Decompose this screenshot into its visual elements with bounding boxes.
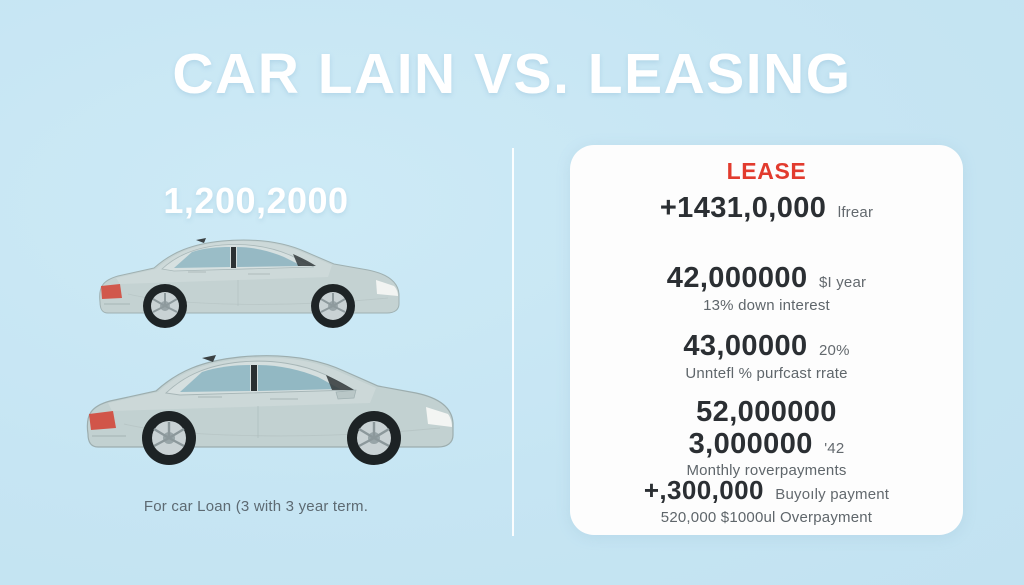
vertical-divider: [512, 148, 514, 536]
lease-row-value: 42,000000: [667, 262, 808, 294]
lease-row: +,300,000 Buyoıly payment 520,000 $1000u…: [570, 477, 963, 526]
lease-row-unit: '42: [824, 440, 844, 457]
lease-row-unit: $I year: [819, 274, 866, 291]
lease-row: 52,000000 3,000000 '42 Monthly roverpaym…: [570, 397, 963, 479]
lease-heading: LEASE: [570, 158, 963, 185]
lease-row: 43,00000 20% Unntefl % purfcast rrate: [570, 331, 963, 382]
lease-card: LEASE +1431,0,000 lfrear 42,000000 $I ye…: [570, 145, 963, 535]
loan-caption: For car Loan (3 with 3 year term.: [0, 498, 512, 515]
lease-row-unit: lfrear: [838, 204, 873, 221]
loan-amount-value: 1,200,2000: [0, 180, 512, 222]
lease-row-value-secondary: 3,000000: [689, 428, 813, 460]
lease-row-unit: 20%: [819, 342, 850, 359]
lease-row-value: 52,000000: [696, 396, 837, 428]
lease-row-unit: Buyoıly payment: [775, 486, 889, 503]
lease-row-value: 43,00000: [683, 330, 807, 362]
lease-row: +1431,0,000 lfrear: [570, 193, 963, 224]
lease-row-subtitle: 13% down interest: [570, 297, 963, 314]
infographic-canvas: CAR LAIN VS. LEASING 1,200,2000: [0, 0, 1024, 585]
sedan-illustration-bottom: [74, 338, 464, 484]
page-title: CAR LAIN VS. LEASING: [0, 40, 1024, 108]
lease-row-value: +,300,000: [644, 475, 764, 505]
lease-row-value: +1431,0,000: [660, 192, 826, 224]
lease-row: 42,000000 $I year 13% down interest: [570, 263, 963, 314]
lease-row-subtitle: Unntefl % purfcast rrate: [570, 365, 963, 382]
lease-row-subtitle: 520,000 $1000ul Overpayment: [570, 509, 963, 526]
sedan-illustration-top: [88, 224, 408, 342]
loan-panel: 1,200,2000: [0, 140, 512, 560]
